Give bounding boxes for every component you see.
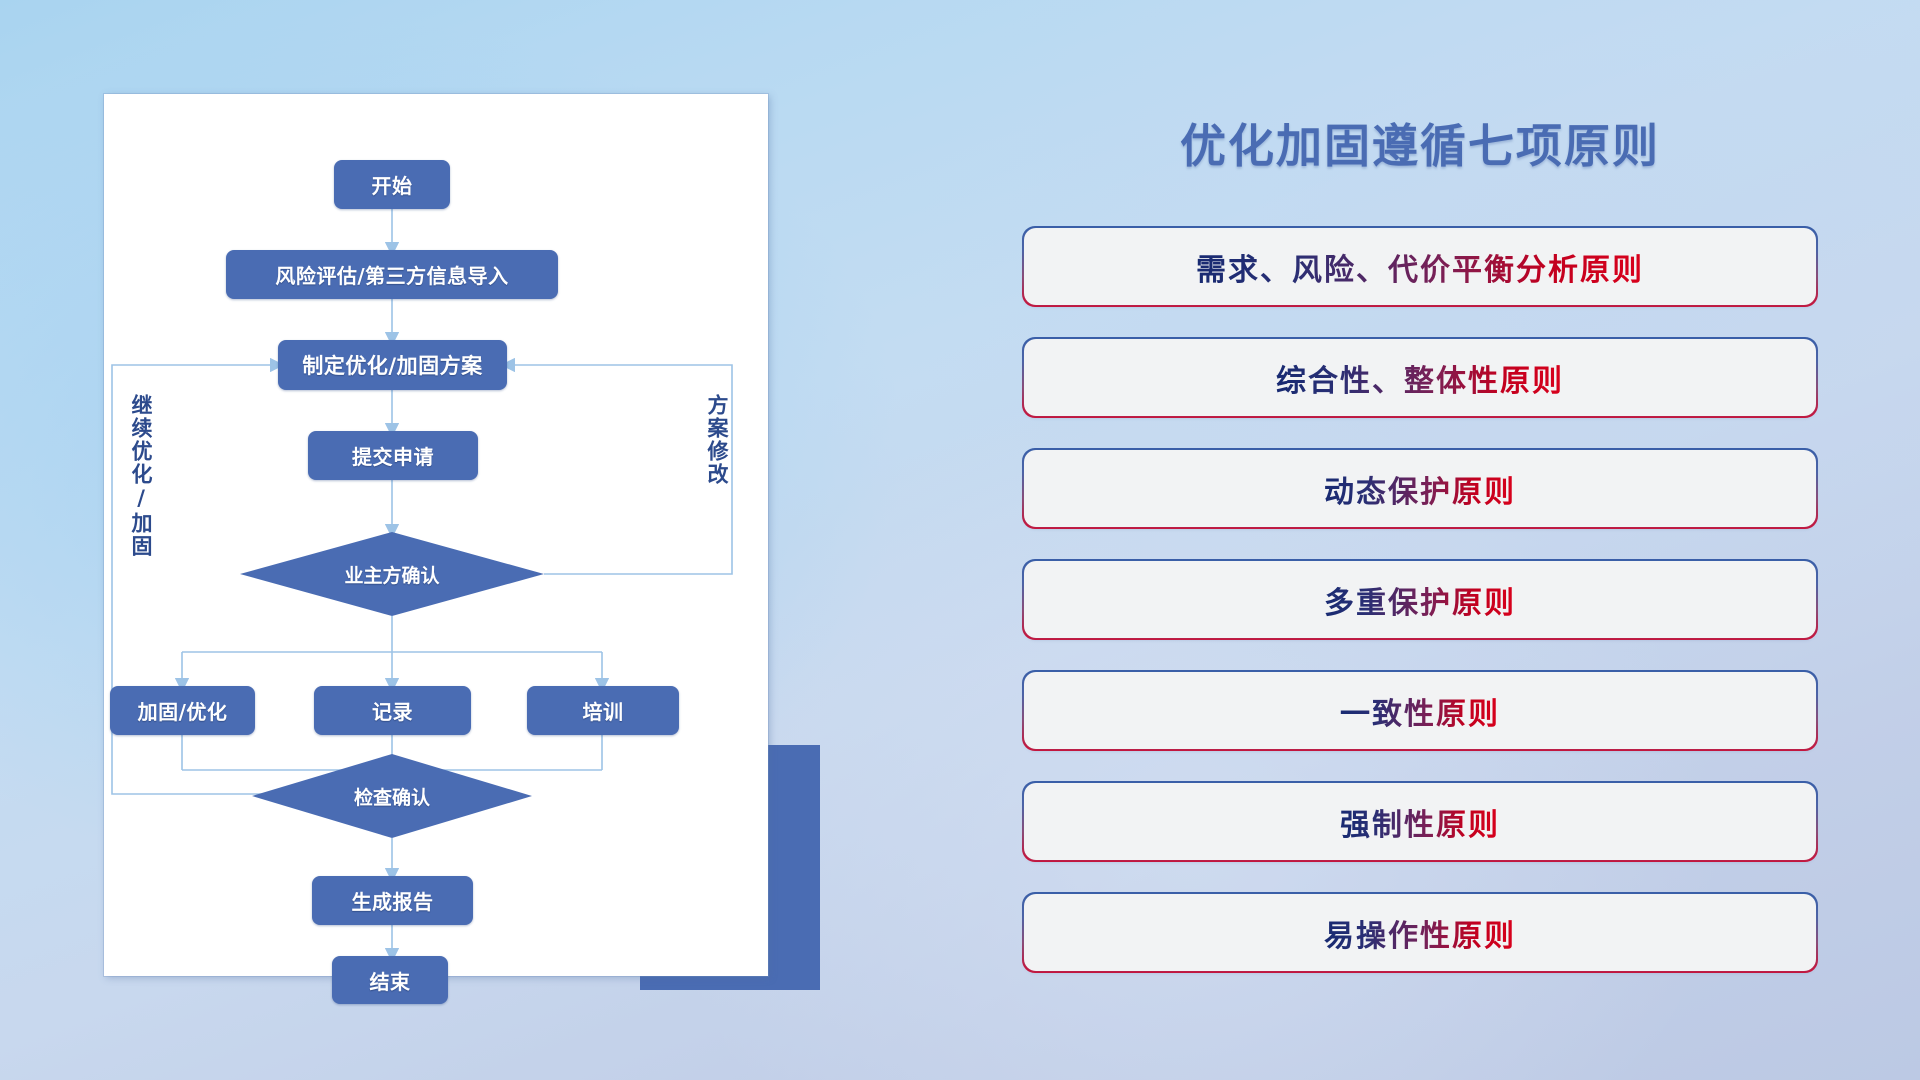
flow-node-end[interactable]: 结束 (332, 956, 448, 1004)
principle-item[interactable]: 易操作性原则 (1024, 894, 1816, 971)
flow-node-training[interactable]: 培训 (527, 686, 679, 735)
flow-node-label: 生成报告 (352, 886, 434, 915)
flow-edge-label-continue-optimize: 继续优化/加固 (130, 394, 152, 558)
flow-node-label: 记录 (372, 696, 413, 725)
principles-panel: 优化加固遵循七项原则 需求、风险、代价平衡分析原则 综合性、整体性原则 动态保护… (1000, 96, 1840, 996)
principle-label: 动态保护原则 (1324, 467, 1516, 511)
flow-decision-owner-confirm[interactable]: 业主方确认 (240, 532, 544, 616)
principle-label: 强制性原则 (1340, 800, 1500, 844)
flow-node-label: 提交申请 (352, 441, 434, 470)
principle-item[interactable]: 一致性原则 (1024, 672, 1816, 749)
flow-node-record[interactable]: 记录 (314, 686, 471, 735)
flow-node-label: 开始 (372, 170, 413, 199)
principle-item[interactable]: 多重保护原则 (1024, 561, 1816, 638)
principle-label: 易操作性原则 (1324, 911, 1516, 955)
flow-node-label: 业主方确认 (344, 561, 439, 588)
flow-node-generate-report[interactable]: 生成报告 (312, 876, 473, 925)
flow-node-plan[interactable]: 制定优化/加固方案 (278, 340, 507, 390)
flow-node-start[interactable]: 开始 (334, 160, 450, 209)
principle-item[interactable]: 综合性、整体性原则 (1024, 339, 1816, 416)
slide-card: 开始 风险评估/第三方信息导入 制定优化/加固方案 提交申请 业主方确认 加固/… (104, 94, 768, 976)
panel-title: 优化加固遵循七项原则 (1000, 110, 1840, 176)
principles-list: 需求、风险、代价平衡分析原则 综合性、整体性原则 动态保护原则 多重保护原则 一… (1024, 228, 1816, 1005)
principle-label: 多重保护原则 (1324, 578, 1516, 622)
flow-node-label: 结束 (370, 966, 411, 995)
flow-decision-inspection-confirm[interactable]: 检查确认 (252, 754, 532, 838)
principle-item[interactable]: 动态保护原则 (1024, 450, 1816, 527)
principle-item[interactable]: 需求、风险、代价平衡分析原则 (1024, 228, 1816, 305)
flowchart-canvas: 开始 风险评估/第三方信息导入 制定优化/加固方案 提交申请 业主方确认 加固/… (104, 94, 768, 976)
flow-node-submit-application[interactable]: 提交申请 (308, 431, 478, 480)
principle-label: 一致性原则 (1340, 689, 1500, 733)
flow-node-label: 检查确认 (354, 783, 430, 810)
flow-node-risk-assessment[interactable]: 风险评估/第三方信息导入 (226, 250, 558, 299)
principle-label: 综合性、整体性原则 (1276, 356, 1564, 400)
principle-label: 需求、风险、代价平衡分析原则 (1196, 245, 1644, 289)
principle-item[interactable]: 强制性原则 (1024, 783, 1816, 860)
flow-edge-label-plan-revision: 方案修改 (706, 394, 728, 486)
flow-node-reinforce-optimize[interactable]: 加固/优化 (110, 686, 255, 735)
flow-node-label: 制定优化/加固方案 (302, 350, 482, 380)
flow-node-label: 培训 (583, 696, 624, 725)
flow-node-label: 风险评估/第三方信息导入 (275, 260, 508, 289)
flow-node-label: 加固/优化 (138, 696, 228, 725)
